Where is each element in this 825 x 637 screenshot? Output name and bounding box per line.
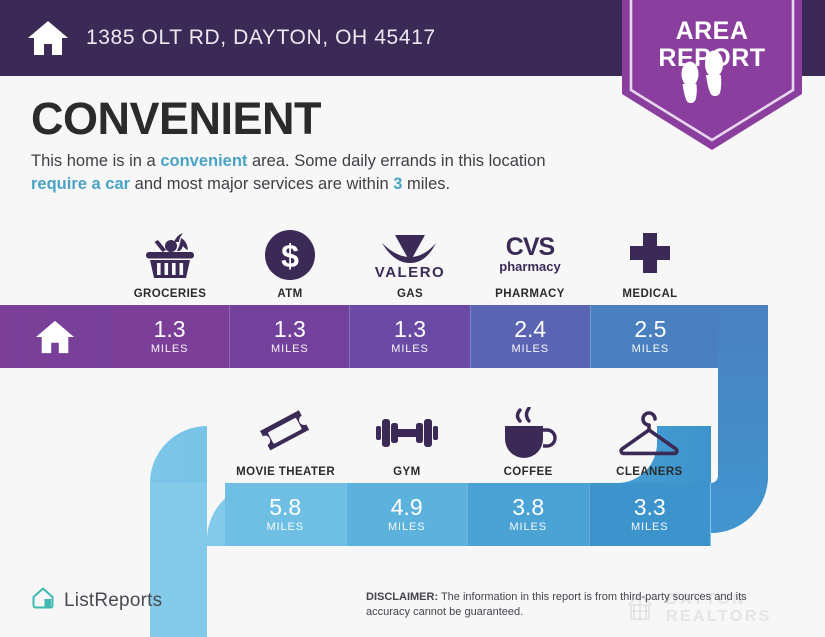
distance-cell: 2.4 MILES <box>470 305 590 368</box>
distance-cell: 1.3 MILES <box>229 305 349 368</box>
distance-cell: 2.5 MILES <box>590 305 710 368</box>
dollar-circle-icon: $ <box>264 229 316 281</box>
distance-unit: MILES <box>631 521 669 533</box>
svg-text:VALERO: VALERO <box>375 264 445 280</box>
svg-text:pharmacy: pharmacy <box>499 259 561 274</box>
brand-name: ListReports <box>64 590 162 612</box>
distance-value: 3.3 <box>634 496 666 519</box>
distance-unit: MILES <box>511 343 549 355</box>
distance-unit: MILES <box>509 521 547 533</box>
distance-cell: 1.3 MILES <box>110 305 229 368</box>
category-gas: VALERO GAS <box>350 214 470 300</box>
listreports-house-icon <box>31 586 55 615</box>
distance-unit: MILES <box>388 521 426 533</box>
distance-value: 2.4 <box>514 318 546 341</box>
listreports-brand[interactable]: ListReports <box>31 586 162 615</box>
cvs-pharmacy-logo-icon: CVS pharmacy <box>488 229 572 281</box>
distance-cell: 3.8 MILES <box>467 483 589 546</box>
dumbbell-icon <box>375 407 439 459</box>
category-label: GYM <box>393 466 420 478</box>
distance-value: 1.3 <box>154 318 186 341</box>
badge-line-2: REPORT <box>622 45 802 72</box>
distance-value: 3.8 <box>512 496 544 519</box>
ticket-icon <box>258 407 314 459</box>
category-pharmacy: CVS pharmacy PHARMACY <box>470 214 590 300</box>
property-address: 1385 OLT RD, DAYTON, OH 45417 <box>86 26 436 50</box>
category-atm: $ ATM <box>230 214 350 300</box>
distance-unit: MILES <box>151 343 189 355</box>
category-label: GAS <box>397 288 423 300</box>
area-report-badge: AREA REPORT <box>622 0 802 150</box>
distance-value: 4.9 <box>391 496 423 519</box>
distance-cell: 3.3 MILES <box>589 483 711 546</box>
category-coffee: COFFEE <box>468 392 589 478</box>
page-title: CONVENIENT <box>31 93 321 145</box>
summary-part-2: area. Some daily errands in this locatio… <box>247 152 545 170</box>
disclaimer: DISCLAIMER: The information in this repo… <box>366 590 791 619</box>
distance-unit: MILES <box>632 343 670 355</box>
category-label: GROCERIES <box>134 288 207 300</box>
distance-value: 1.3 <box>274 318 306 341</box>
category-cleaners: CLEANERS <box>589 392 710 478</box>
distance-unit: MILES <box>266 521 304 533</box>
category-label: COFFEE <box>504 466 553 478</box>
distance-value: 5.8 <box>269 496 301 519</box>
row-1-category-icons: GROCERIES $ ATM VALERO GAS <box>110 214 710 300</box>
summary-part-1: This home is in a <box>31 152 160 170</box>
category-label: MOVIE THEATER <box>236 466 335 478</box>
valero-logo-icon: VALERO <box>370 229 450 281</box>
row-1-distances: 1.3 MILES 1.3 MILES 1.3 MILES 2.4 MILES … <box>110 305 710 368</box>
hanger-icon <box>617 407 681 459</box>
disclaimer-label: DISCLAIMER: <box>366 591 438 603</box>
category-label: ATM <box>277 288 302 300</box>
svg-text:$: $ <box>281 238 299 274</box>
category-movie-theater: MOVIE THEATER <box>225 392 346 478</box>
home-icon <box>26 18 70 58</box>
distance-unit: MILES <box>391 343 429 355</box>
distance-value: 1.3 <box>394 318 426 341</box>
distance-cell: 5.8 MILES <box>225 483 346 546</box>
grocery-basket-icon <box>141 229 199 281</box>
category-label: CLEANERS <box>616 466 682 478</box>
summary-highlight-1: convenient <box>160 152 247 170</box>
distance-unit: MILES <box>271 343 309 355</box>
row-2-distances: 5.8 MILES 4.9 MILES 3.8 MILES 3.3 MILES <box>225 483 710 546</box>
summary-text: This home is in a convenient area. Some … <box>31 150 591 196</box>
category-label: MEDICAL <box>622 288 677 300</box>
coffee-cup-icon <box>499 407 557 459</box>
svg-text:CVS: CVS <box>506 233 555 261</box>
area-report-page: 1385 OLT RD, DAYTON, OH 45417 AREA REPOR… <box>0 0 825 637</box>
distance-cell: 1.3 MILES <box>349 305 469 368</box>
category-gym: GYM <box>346 392 467 478</box>
category-groceries: GROCERIES <box>110 214 230 300</box>
summary-part-4: miles. <box>402 175 450 193</box>
row-2-category-icons: MOVIE THEATER GYM <box>225 392 710 478</box>
summary-part-3: and most major services are within <box>130 175 393 193</box>
medical-cross-icon <box>626 229 674 281</box>
area-report-badge-text: AREA REPORT <box>622 18 802 72</box>
badge-line-1: AREA <box>622 18 802 45</box>
distance-value: 2.5 <box>634 318 666 341</box>
category-label: PHARMACY <box>495 288 565 300</box>
ribbon-start-home-icon <box>34 318 76 361</box>
distance-cell: 4.9 MILES <box>346 483 468 546</box>
category-medical: MEDICAL <box>590 214 710 300</box>
summary-highlight-2: require a car <box>31 175 130 193</box>
